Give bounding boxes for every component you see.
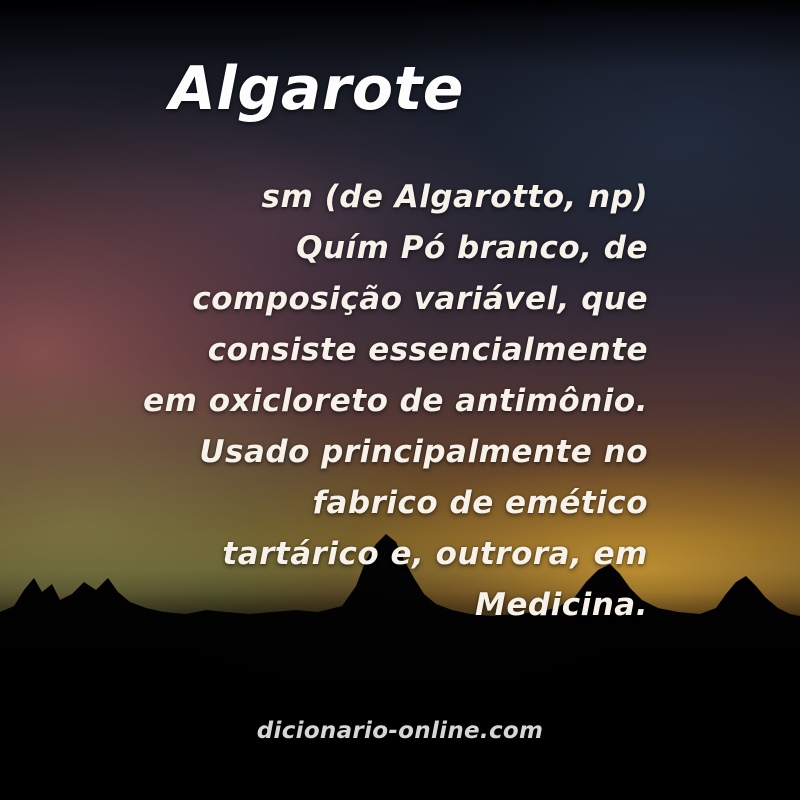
definition-line: Quím Pó branco, de [60,223,648,274]
headword-title: Algarote [0,54,464,124]
definition-line: Usado principalmente no [60,427,648,478]
definition-line: composição variável, que [60,274,648,325]
definition-line: consiste essencialmente [60,325,648,376]
definition-line: em oxicloreto de antimônio. [60,376,648,427]
site-watermark: dicionario-online.com [0,716,800,746]
dictionary-entry-card: Algarote sm (de Algarotto, np)Quím Pó br… [0,0,800,800]
definition-text: sm (de Algarotto, np)Quím Pó branco, dec… [60,172,648,631]
definition-line: fabrico de emético [60,478,648,529]
definition-line: tartárico e, outrora, em [60,529,648,580]
definition-line: sm (de Algarotto, np) [60,172,648,223]
entry-content: Algarote sm (de Algarotto, np)Quím Pó br… [0,0,800,800]
definition-line: Medicina. [60,580,648,631]
